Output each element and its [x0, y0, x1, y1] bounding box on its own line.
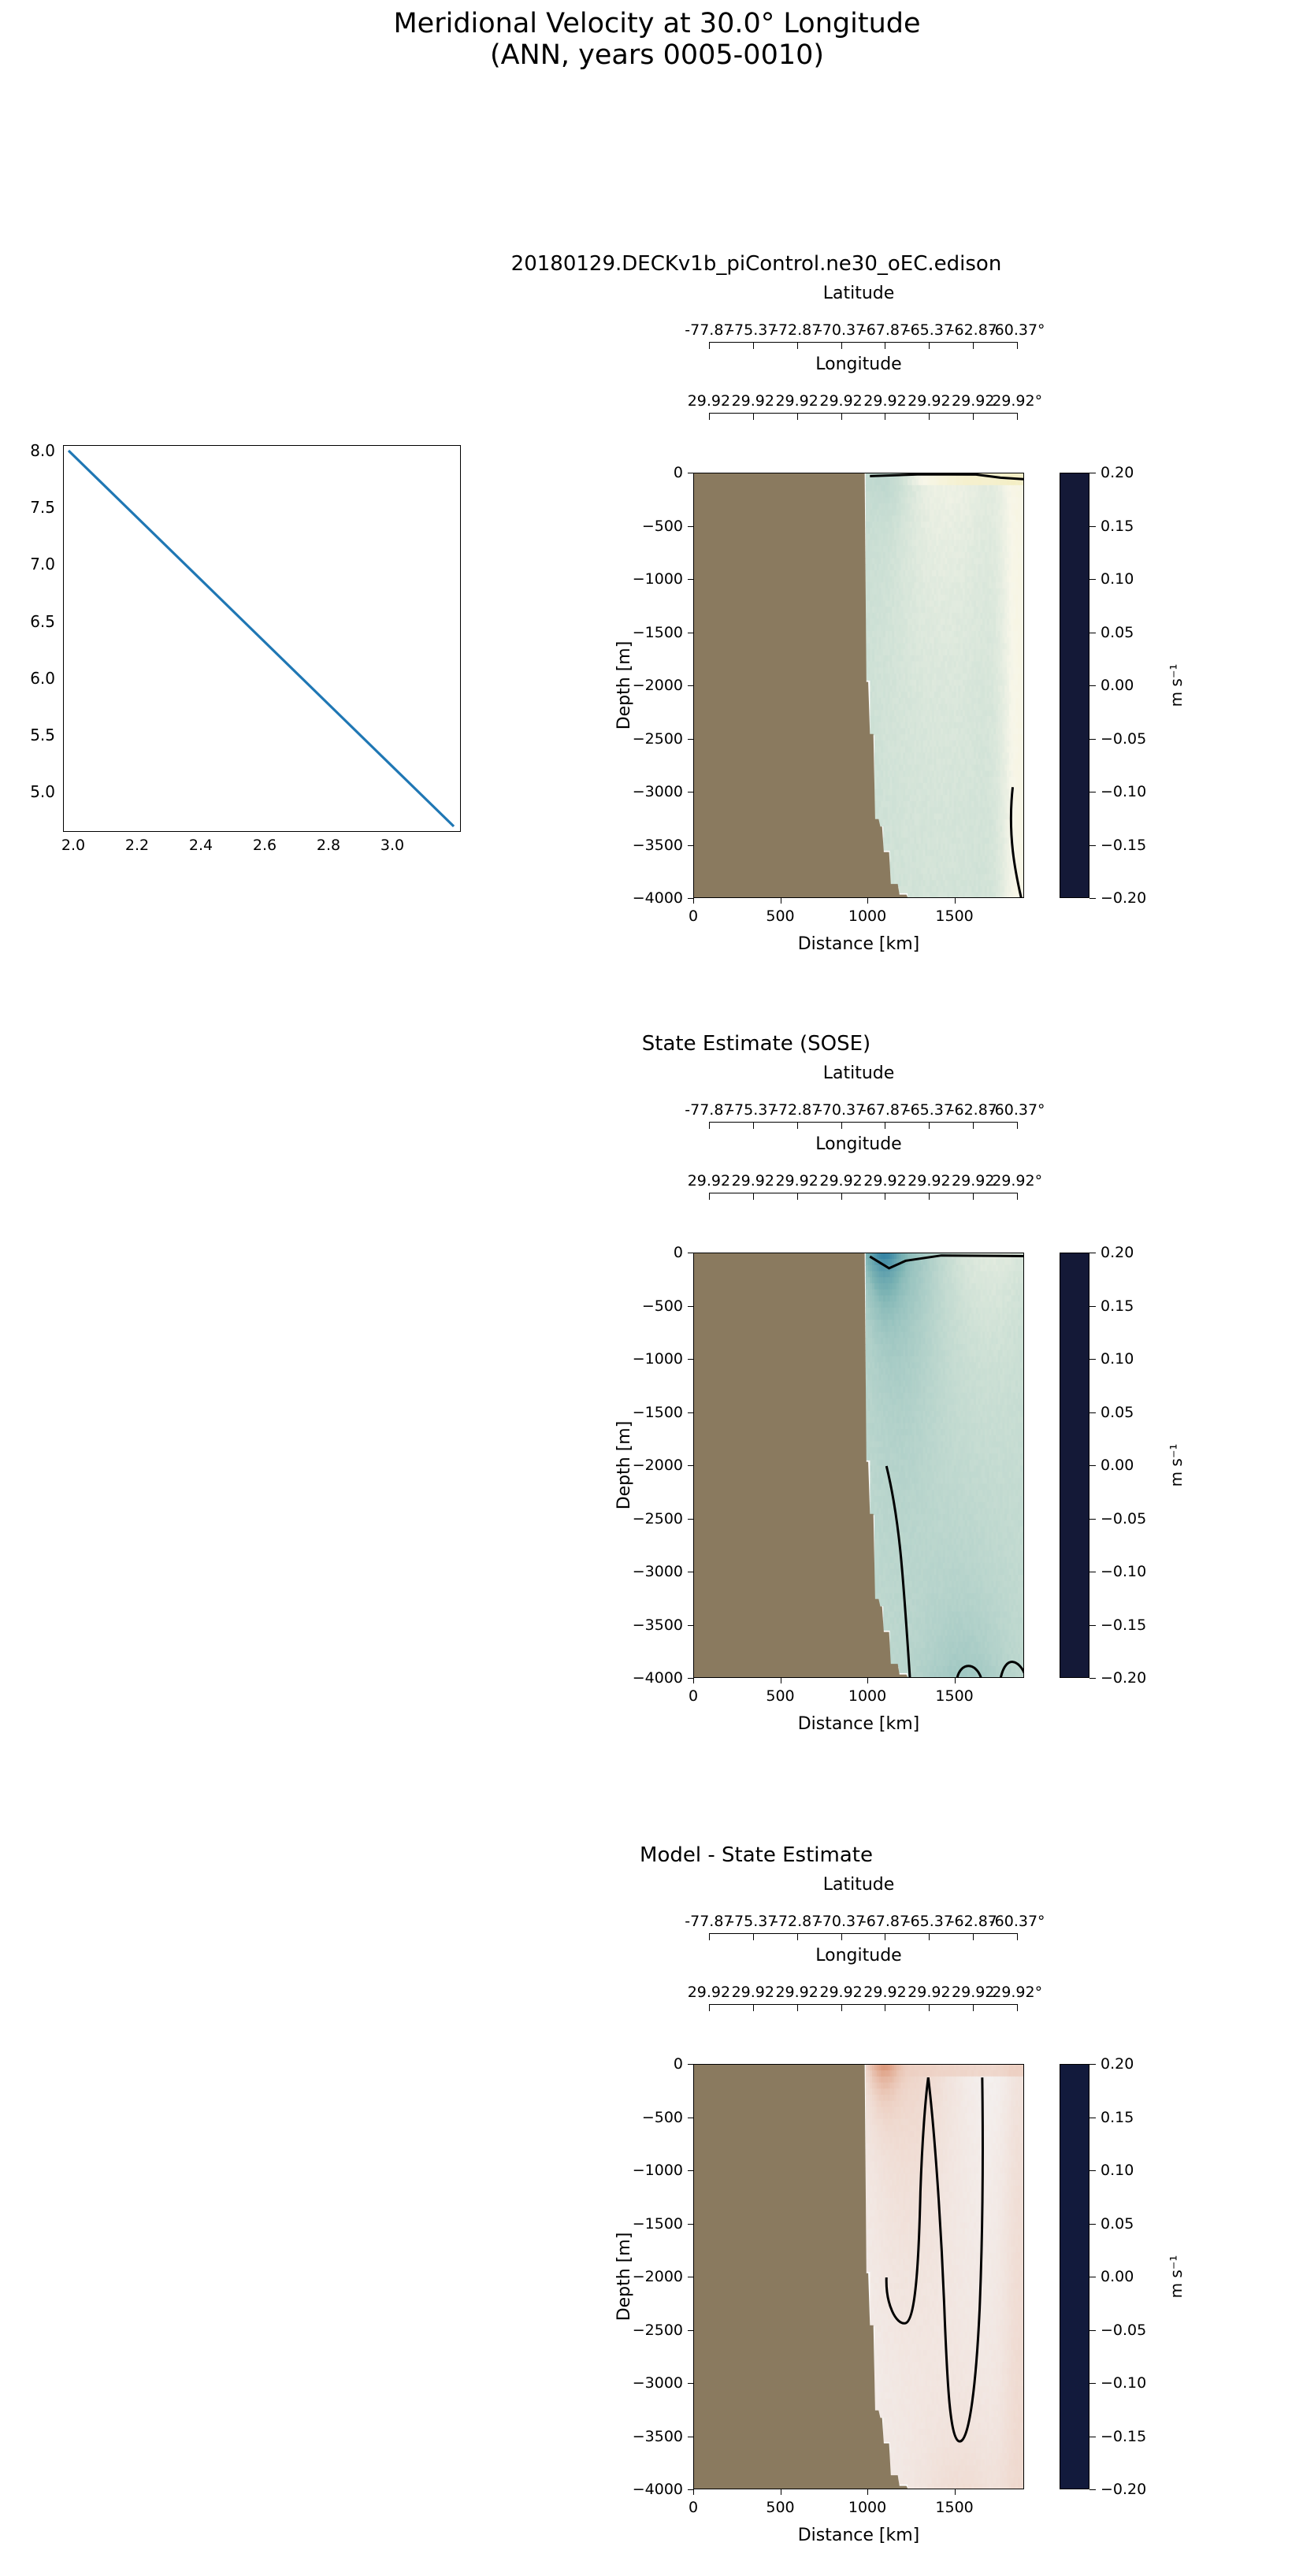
line-plot-xtick-4: 2.8 — [317, 837, 340, 854]
secondary-axis-latitude-label: -72.87 — [773, 1913, 821, 1930]
secondary-axis-longitude-tick — [753, 413, 754, 420]
secondary-axis-latitude-title: Latitude — [693, 1063, 1024, 1083]
colorbar-unit-label: m s⁻¹ — [1167, 2255, 1186, 2299]
secondary-axis-latitude-tick — [709, 1122, 710, 1129]
secondary-axis-longitude-label: 29.92 — [908, 392, 950, 410]
secondary-axis-longitude-label: 29.92 — [732, 1984, 774, 2001]
secondary-axis-latitude-label: -72.87 — [773, 321, 821, 339]
distance-tick — [955, 1678, 956, 1683]
depth-tick-label: −2500 — [633, 730, 683, 748]
depth-axis-title: Depth [m] — [614, 1421, 634, 1510]
depth-tick — [688, 2489, 693, 2490]
distance-tick-label: 1500 — [935, 1687, 973, 1705]
colorbar-tick-label: −0.05 — [1101, 2322, 1146, 2339]
secondary-axis-longitude-label: 29.92° — [992, 392, 1042, 410]
colorbar-tick — [1089, 1306, 1096, 1307]
secondary-axis-longitude-label: 29.92° — [992, 1984, 1042, 2001]
panel-model: 20180129.DECKv1b_piControl.ne30_oEC.edis… — [551, 252, 1314, 772]
line-plot-ytick-1: 7.5 — [30, 498, 55, 517]
secondary-axis-longitude-label: 29.92 — [688, 1984, 730, 2001]
colorbar-tick — [1089, 1412, 1096, 1413]
depth-tick-label: −1500 — [633, 2215, 683, 2233]
secondary-axis-longitude-label: 29.92 — [952, 1172, 994, 1190]
secondary-axis-latitude-label: -65.37 — [905, 321, 953, 339]
distance-tick-label: 500 — [766, 908, 794, 925]
secondary-axis-longitude-tick — [885, 2004, 885, 2011]
secondary-axis-latitude-label: -75.37 — [729, 1913, 777, 1930]
colorbar-tick-label: 0.15 — [1101, 2109, 1134, 2126]
depth-tick-label: −1500 — [633, 624, 683, 641]
secondary-axis-latitude-line — [709, 342, 1017, 343]
secondary-axis-latitude-tick — [797, 1122, 798, 1129]
secondary-axis-latitude-tick — [709, 1933, 710, 1940]
line-plot-ytick-0: 8.0 — [30, 441, 55, 460]
depth-tick — [688, 1519, 693, 1520]
line-plot-xtick-1: 2.2 — [125, 837, 149, 854]
distance-tick — [693, 2489, 694, 2495]
secondary-axis-latitude-label: -65.37 — [905, 1101, 953, 1119]
depth-tick-label: −1000 — [633, 570, 683, 588]
depth-tick — [688, 2383, 693, 2384]
cross-section-field — [694, 473, 1024, 898]
colorbar-tick — [1089, 1359, 1096, 1360]
secondary-axis-longitude-tick — [709, 1193, 710, 1200]
colorbar-tick-label: −0.20 — [1101, 889, 1146, 907]
depth-tick — [688, 2224, 693, 2225]
secondary-axis-longitude-label: 29.92 — [908, 1172, 950, 1190]
distance-axis-title: Distance [km] — [798, 1714, 920, 1734]
depth-tick-label: −3000 — [633, 2374, 683, 2392]
secondary-axis-latitude-tick — [973, 342, 974, 349]
colorbar-tick — [1089, 2224, 1096, 2225]
depth-tick — [688, 2437, 693, 2437]
secondary-axis-longitude-tick — [885, 413, 885, 420]
secondary-axis-latitude-label: -70.37 — [817, 321, 865, 339]
distance-tick-label: 1500 — [935, 908, 973, 925]
colorbar-tick-label: −0.10 — [1101, 1563, 1146, 1580]
colorbar-tick — [1089, 2118, 1096, 2118]
colorbar-tick-label: 0.05 — [1101, 624, 1134, 641]
depth-tick — [688, 633, 693, 633]
colorbar-tick — [1089, 1678, 1096, 1679]
secondary-axis-longitude-tick — [973, 2004, 974, 2011]
colorbar-tick — [1089, 526, 1096, 527]
secondary-axis-latitude-tick — [841, 342, 842, 349]
line-plot-ytick-5: 5.5 — [30, 726, 55, 744]
depth-tick-label: −4000 — [633, 1669, 683, 1687]
secondary-axis-latitude-label: -67.87 — [861, 1101, 909, 1119]
depth-tick — [688, 739, 693, 740]
distance-tick-label: 0 — [689, 1687, 698, 1705]
secondary-axis-longitude-label: 29.92 — [819, 1984, 862, 2001]
colorbar-tick-label: 0.00 — [1101, 677, 1134, 694]
secondary-axis-longitude-label: 29.92 — [688, 1172, 730, 1190]
distance-tick — [955, 898, 956, 904]
colorbar-unit-label: m s⁻¹ — [1167, 1444, 1186, 1487]
panel-sose: State Estimate (SOSE) Latitude-77.87-75.… — [551, 1032, 1314, 1552]
colorbar-tick — [1089, 2489, 1096, 2490]
depth-tick — [688, 1465, 693, 1466]
secondary-axis-latitude-label: -77.87 — [685, 321, 733, 339]
distance-tick-label: 500 — [766, 2499, 794, 2516]
line-plot-series — [64, 446, 460, 831]
secondary-axis-latitude-tick — [885, 342, 885, 349]
colorbar-tick-label: 0.10 — [1101, 2162, 1134, 2179]
line-plot-ytick-4: 6.0 — [30, 669, 55, 688]
depth-tick-label: −3500 — [633, 2428, 683, 2445]
secondary-axis-longitude-tick — [797, 2004, 798, 2011]
line-plot-xtick-3: 2.6 — [253, 837, 277, 854]
colorbar[interactable] — [1060, 2064, 1089, 2489]
secondary-axis-latitude-tick — [1017, 1933, 1018, 1940]
line-plot-ytick-6: 5.0 — [30, 782, 55, 801]
secondary-axis-latitude-label: -77.87 — [685, 1913, 733, 1930]
secondary-axis-latitude-label: -60.37° — [989, 321, 1045, 339]
secondary-axis-longitude-label: 29.92 — [863, 1984, 906, 2001]
distance-tick — [955, 2489, 956, 2495]
secondary-axis-latitude-title: Latitude — [693, 1875, 1024, 1895]
colorbar-tick-label: −0.20 — [1101, 2481, 1146, 2498]
secondary-axis-latitude-tick — [885, 1122, 885, 1129]
colorbar-tick-label: −0.10 — [1101, 2374, 1146, 2392]
depth-tick — [688, 1625, 693, 1626]
secondary-axis-latitude-tick — [1017, 342, 1018, 349]
depth-tick — [688, 1253, 693, 1253]
colorbar-tick — [1089, 1465, 1096, 1466]
secondary-axis-latitude-tick — [753, 1933, 754, 1940]
distance-tick-label: 0 — [689, 2499, 698, 2516]
distance-axis-title: Distance [km] — [798, 2526, 920, 2545]
depth-tick-label: −2000 — [633, 1457, 683, 1474]
secondary-axis-longitude-tick — [1017, 2004, 1018, 2011]
colorbar-tick-label: 0.10 — [1101, 570, 1134, 588]
secondary-axis-latitude-label: -75.37 — [729, 1101, 777, 1119]
depth-tick — [688, 898, 693, 899]
distance-tick-label: 1500 — [935, 2499, 973, 2516]
secondary-axis-longitude-label: 29.92 — [819, 392, 862, 410]
secondary-axis-longitude-label: 29.92 — [819, 1172, 862, 1190]
colorbar-tick — [1089, 1519, 1096, 1520]
secondary-axis-latitude-tick — [753, 1122, 754, 1129]
secondary-axis-longitude-label: 29.92 — [732, 392, 774, 410]
secondary-axis-latitude-tick — [1017, 1122, 1018, 1129]
secondary-axis-longitude-title: Longitude — [693, 354, 1024, 374]
cross-section-field — [694, 2065, 1024, 2489]
depth-tick — [688, 1359, 693, 1360]
secondary-axis-longitude-label: 29.92 — [775, 1984, 818, 2001]
distance-tick — [693, 1678, 694, 1683]
distance-tick — [781, 898, 781, 904]
secondary-axis-longitude-tick — [797, 1193, 798, 1200]
depth-tick-label: −2000 — [633, 2268, 683, 2285]
colorbar-tick-label: 0.20 — [1101, 464, 1134, 481]
secondary-axis-latitude-tick — [929, 1122, 930, 1129]
distance-tick-label: 1000 — [848, 2499, 886, 2516]
depth-tick — [688, 845, 693, 846]
secondary-axis-longitude-tick — [929, 2004, 930, 2011]
colorbar-tick — [1089, 579, 1096, 580]
depth-tick — [688, 579, 693, 580]
depth-tick — [688, 685, 693, 686]
secondary-axis-longitude-label: 29.92 — [775, 392, 818, 410]
colorbar-tick-label: −0.20 — [1101, 1669, 1146, 1687]
colorbar-tick — [1089, 898, 1096, 899]
secondary-axis-latitude-line — [709, 1933, 1017, 1934]
colorbar[interactable] — [1060, 473, 1089, 898]
depth-tick — [688, 1306, 693, 1307]
distance-tick — [781, 1678, 781, 1683]
secondary-axis-latitude-label: -60.37° — [989, 1913, 1045, 1930]
depth-tick-label: −2000 — [633, 677, 683, 694]
depth-tick — [688, 2330, 693, 2331]
distance-tick — [867, 1678, 868, 1683]
depth-tick-label: −1000 — [633, 2162, 683, 2179]
secondary-axis-longitude-line — [709, 2004, 1017, 2005]
colorbar-tick-label: 0.00 — [1101, 2268, 1134, 2285]
secondary-axis-longitude-label: 29.92 — [908, 1984, 950, 2001]
panel-diff: Model - State Estimate Latitude-77.87-75… — [551, 1843, 1314, 2363]
depth-tick — [688, 1678, 693, 1679]
depth-tick — [688, 1412, 693, 1413]
secondary-axis-longitude-tick — [885, 1193, 885, 1200]
colorbar-tick — [1089, 685, 1096, 686]
secondary-axis-longitude-tick — [753, 1193, 754, 1200]
secondary-axis-latitude-tick — [929, 342, 930, 349]
colorbar-tick-label: −0.10 — [1101, 783, 1146, 800]
line-plot-xtick-0: 2.0 — [61, 837, 85, 854]
colorbar-tick-label: −0.15 — [1101, 1616, 1146, 1634]
secondary-axis-latitude-label: -60.37° — [989, 1101, 1045, 1119]
colorbar-tick — [1089, 1572, 1096, 1572]
colorbar-tick-label: −0.05 — [1101, 730, 1146, 748]
depth-tick-label: 0 — [674, 464, 683, 481]
depth-tick-label: 0 — [674, 1244, 683, 1261]
depth-tick — [688, 2277, 693, 2277]
depth-tick — [688, 2064, 693, 2065]
colorbar-tick-label: 0.00 — [1101, 1457, 1134, 1474]
secondary-axis-latitude-tick — [797, 342, 798, 349]
secondary-axis-longitude-label: 29.92 — [863, 392, 906, 410]
colorbar-tick — [1089, 1625, 1096, 1626]
secondary-axis-longitude-label: 29.92 — [688, 392, 730, 410]
line-plot-ytick-2: 7.0 — [30, 555, 55, 573]
panel-model-title: 20180129.DECKv1b_piControl.ne30_oEC.edis… — [189, 252, 1314, 276]
secondary-axis-latitude-label: -70.37 — [817, 1913, 865, 1930]
figure-suptitle-line2: (ANN, years 0005-0010) — [0, 38, 1314, 72]
depth-tick-label: −1500 — [633, 1404, 683, 1421]
secondary-axis-longitude-label: 29.92 — [952, 1984, 994, 2001]
cross-section-field — [694, 1253, 1024, 1678]
secondary-axis-latitude-tick — [973, 1122, 974, 1129]
cross-section-plot[interactable] — [693, 2064, 1024, 2489]
distance-axis-title: Distance [km] — [798, 934, 920, 954]
depth-tick-label: −4000 — [633, 2481, 683, 2498]
colorbar-tick — [1089, 2383, 1096, 2384]
distance-tick — [867, 2489, 868, 2495]
secondary-axis-longitude-label: 29.92 — [775, 1172, 818, 1190]
cross-section-plot[interactable] — [693, 473, 1024, 898]
secondary-axis-latitude-tick — [973, 1933, 974, 1940]
secondary-axis-longitude-title: Longitude — [693, 1134, 1024, 1154]
secondary-axis-longitude-tick — [929, 1193, 930, 1200]
colorbar-tick-label: 0.15 — [1101, 518, 1134, 535]
colorbar-tick — [1089, 2170, 1096, 2171]
distance-tick — [693, 898, 694, 904]
colorbar[interactable] — [1060, 1253, 1089, 1678]
secondary-axis-latitude-tick — [797, 1933, 798, 1940]
depth-tick-label: −500 — [642, 1297, 683, 1315]
depth-tick-label: 0 — [674, 2055, 683, 2073]
distance-tick-label: 500 — [766, 1687, 794, 1705]
depth-tick-label: −3000 — [633, 783, 683, 800]
secondary-axis-longitude-tick — [1017, 413, 1018, 420]
line-plot-axes[interactable] — [63, 445, 461, 832]
secondary-axis-longitude-label: 29.92° — [992, 1172, 1042, 1190]
figure-canvas: Meridional Velocity at 30.0° Longitude (… — [0, 0, 1314, 2576]
colorbar-tick — [1089, 1253, 1096, 1253]
depth-tick-label: −1000 — [633, 1350, 683, 1368]
secondary-axis-latitude-label: -67.87 — [861, 1913, 909, 1930]
depth-tick — [688, 2118, 693, 2118]
line-plot-ytick-3: 6.5 — [30, 612, 55, 631]
colorbar-tick-label: 0.05 — [1101, 2215, 1134, 2233]
secondary-axis-longitude-label: 29.92 — [732, 1172, 774, 1190]
depth-tick — [688, 1572, 693, 1572]
secondary-axis-longitude-line — [709, 1193, 1017, 1193]
distance-tick-label: 1000 — [848, 1687, 886, 1705]
distance-tick — [867, 898, 868, 904]
secondary-axis-longitude-tick — [753, 2004, 754, 2011]
depth-axis-title: Depth [m] — [614, 2233, 634, 2322]
colorbar-tick — [1089, 2064, 1096, 2065]
secondary-axis-latitude-tick — [753, 342, 754, 349]
secondary-axis-latitude-tick — [709, 342, 710, 349]
secondary-axis-longitude-line — [709, 413, 1017, 414]
secondary-axis-latitude-label: -67.87 — [861, 321, 909, 339]
depth-tick — [688, 792, 693, 792]
colorbar-tick-label: 0.05 — [1101, 1404, 1134, 1421]
depth-axis-title: Depth [m] — [614, 641, 634, 730]
secondary-axis-latitude-label: -75.37 — [729, 321, 777, 339]
secondary-axis-latitude-label: -77.87 — [685, 1101, 733, 1119]
secondary-axis-latitude-label: -65.37 — [905, 1913, 953, 1930]
secondary-axis-longitude-tick — [709, 413, 710, 420]
line-plot-xtick-5: 3.0 — [380, 837, 404, 854]
panel-diff-title: Model - State Estimate — [189, 1843, 1314, 1867]
depth-tick-label: −3000 — [633, 1563, 683, 1580]
colorbar-unit-label: m s⁻¹ — [1167, 664, 1186, 707]
secondary-axis-longitude-tick — [841, 1193, 842, 1200]
colorbar-tick-label: 0.15 — [1101, 1297, 1134, 1315]
colorbar-tick — [1089, 2330, 1096, 2331]
secondary-axis-longitude-tick — [709, 2004, 710, 2011]
secondary-axis-longitude-tick — [841, 413, 842, 420]
colorbar-tick — [1089, 792, 1096, 792]
colorbar-tick-label: 0.20 — [1101, 1244, 1134, 1261]
secondary-axis-longitude-title: Longitude — [693, 1946, 1024, 1965]
depth-tick-label: −500 — [642, 2109, 683, 2126]
colorbar-tick-label: 0.20 — [1101, 2055, 1134, 2073]
depth-tick-label: −3500 — [633, 837, 683, 854]
secondary-axis-latitude-label: -72.87 — [773, 1101, 821, 1119]
colorbar-tick-label: −0.15 — [1101, 837, 1146, 854]
secondary-axis-longitude-tick — [973, 413, 974, 420]
distance-tick-label: 1000 — [848, 908, 886, 925]
distance-tick-label: 0 — [689, 908, 698, 925]
depth-tick-label: −500 — [642, 518, 683, 535]
line-plot-xtick-2: 2.4 — [189, 837, 213, 854]
secondary-axis-longitude-tick — [797, 413, 798, 420]
colorbar-tick — [1089, 739, 1096, 740]
colorbar-tick — [1089, 845, 1096, 846]
secondary-axis-longitude-tick — [1017, 1193, 1018, 1200]
depth-tick-label: −2500 — [633, 1510, 683, 1527]
colorbar-tick-label: −0.05 — [1101, 1510, 1146, 1527]
secondary-axis-latitude-line — [709, 1122, 1017, 1123]
secondary-axis-latitude-tick — [841, 1933, 842, 1940]
colorbar-tick — [1089, 2277, 1096, 2277]
secondary-axis-longitude-tick — [973, 1193, 974, 1200]
colorbar-tick-label: 0.10 — [1101, 1350, 1134, 1368]
secondary-axis-longitude-tick — [841, 2004, 842, 2011]
secondary-axis-latitude-tick — [885, 1933, 885, 1940]
depth-tick-label: −2500 — [633, 2322, 683, 2339]
depth-tick — [688, 526, 693, 527]
secondary-axis-latitude-tick — [841, 1122, 842, 1129]
depth-tick-label: −3500 — [633, 1616, 683, 1634]
depth-tick-label: −4000 — [633, 889, 683, 907]
panel-sose-title: State Estimate (SOSE) — [189, 1032, 1314, 1056]
depth-tick — [688, 2170, 693, 2171]
cross-section-plot[interactable] — [693, 1253, 1024, 1678]
colorbar-tick-label: −0.15 — [1101, 2428, 1146, 2445]
depth-tick — [688, 473, 693, 473]
secondary-axis-latitude-tick — [929, 1933, 930, 1940]
secondary-axis-longitude-label: 29.92 — [952, 392, 994, 410]
secondary-axis-longitude-label: 29.92 — [863, 1172, 906, 1190]
colorbar-tick — [1089, 473, 1096, 473]
secondary-axis-latitude-label: -70.37 — [817, 1101, 865, 1119]
colorbar-tick — [1089, 2437, 1096, 2437]
colorbar-tick — [1089, 633, 1096, 633]
distance-tick — [781, 2489, 781, 2495]
secondary-axis-longitude-tick — [929, 413, 930, 420]
secondary-axis-latitude-title: Latitude — [693, 284, 1024, 303]
figure-suptitle-line1: Meridional Velocity at 30.0° Longitude — [0, 6, 1314, 41]
